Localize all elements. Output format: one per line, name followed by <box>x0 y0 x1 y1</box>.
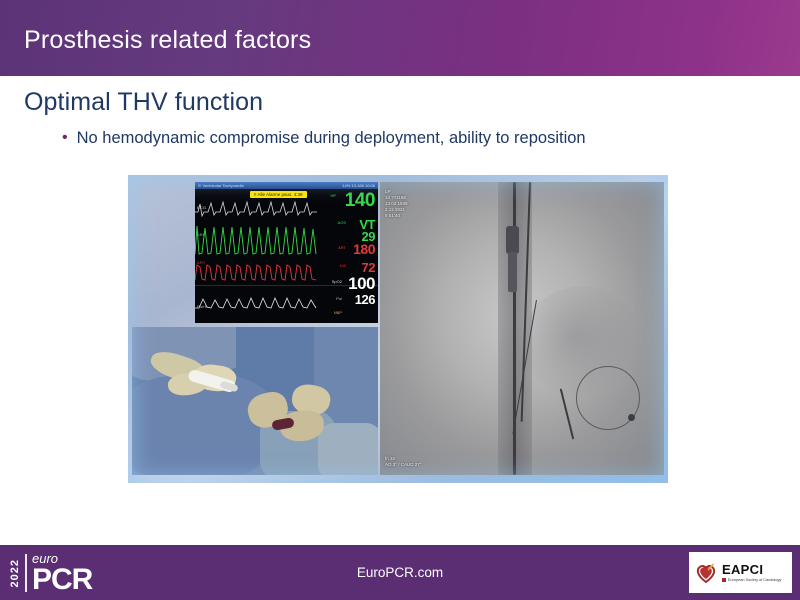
waveform-ecg <box>195 194 317 220</box>
footer-url-label: EuroPCR.com <box>0 545 800 600</box>
media-composite-image: !!! Ventricular Tachycardia 14% 13-166 1… <box>128 175 668 483</box>
monitor-alarm-titlebar: !!! Ventricular Tachycardia 14% 13-166 1… <box>195 182 378 189</box>
heart-icon <box>695 562 717 584</box>
eapci-logo: EAPCI European Society of Cardiology <box>689 552 792 593</box>
waveform-label-ecg: ECG <box>197 205 206 210</box>
waveform-art <box>195 258 317 284</box>
readout-value-hr: 140 <box>345 190 375 211</box>
fluoroscopy-image: LP 14 ??1168 13 03 1939 2 12 2021 9:51:4… <box>380 182 664 475</box>
slide-header-band: Prosthesis related factors <box>0 0 800 76</box>
waveform-label-pleth: Pleth <box>197 304 207 309</box>
readout-label-spo2: SpO2 <box>332 279 342 284</box>
readout-label-hp: HP <box>330 193 336 198</box>
waveform-abp <box>195 220 317 260</box>
page-title: Prosthesis related factors <box>24 26 311 55</box>
bullet-list-item: • No hemodynamic compromise during deplo… <box>62 128 586 148</box>
waveform-label-abp: ABP <box>197 232 206 237</box>
eapci-name-label: EAPCI <box>722 563 781 577</box>
eapci-subtitle: European Society of Cardiology <box>722 577 781 583</box>
waveform-pleth <box>195 288 317 314</box>
fluoro-angle-overlay: fn 32 AO 3° / CAUD 27° <box>385 456 422 468</box>
readout-value-pulse: 126 <box>355 292 375 307</box>
readout-label-pulse: Pul <box>336 296 342 301</box>
fluoro-patient-overlay: LP 14 ??1168 13 03 1939 2 12 2021 9:51:4… <box>385 189 408 219</box>
readout-label-nbp: NBP <box>334 310 342 315</box>
monitor-numeric-panel: HP 140 AOS VT 29 ART 180 100 72 SpO2 100… <box>316 190 378 323</box>
monitor-status-right: 14% 13-166 10:06 <box>342 182 375 189</box>
eapci-text-block: EAPCI European Society of Cardiology <box>722 563 781 583</box>
readout-value-art-sys: 180 <box>353 241 375 257</box>
cathlab-video-panel <box>132 327 378 475</box>
readout-label-art-dia: 100 <box>339 263 346 268</box>
waveform-label-art: ART <box>197 260 206 265</box>
monitor-alarm-title: !!! Ventricular Tachycardia <box>198 183 244 188</box>
readout-label-aos: AOS <box>338 220 346 225</box>
esc-square-icon <box>722 578 726 582</box>
bullet-item-label: No hemodynamic compromise during deploym… <box>77 128 586 148</box>
readout-value-art-dia: 72 <box>362 260 375 275</box>
bullet-marker-icon: • <box>62 128 68 148</box>
readout-label-art: ART <box>338 245 346 250</box>
patient-monitor-screen: !!! Ventricular Tachycardia 14% 13-166 1… <box>195 182 378 323</box>
eapci-subtitle-label: European Society of Cardiology <box>728 577 781 583</box>
section-heading: Optimal THV function <box>24 88 263 117</box>
slide-footer-band: 2022 euro PCR EuroPCR.com EAPCI European… <box>0 545 800 600</box>
